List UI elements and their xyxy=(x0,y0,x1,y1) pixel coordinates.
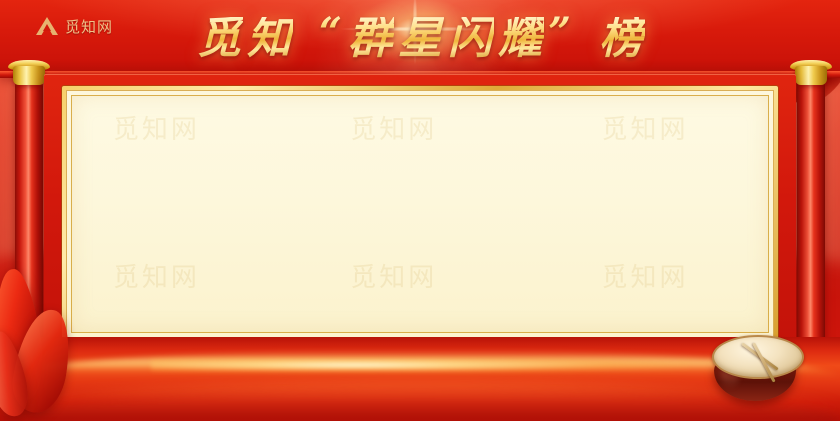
canvas-watermark: 觅知网 xyxy=(113,257,200,294)
content-canvas[interactable]: 觅知网觅知网觅知网觅知网觅知网觅知网 xyxy=(71,95,769,333)
cap-body xyxy=(795,66,827,85)
chinese-drum-icon xyxy=(712,333,804,405)
rod-shaft xyxy=(797,82,825,360)
golden-light-streak xyxy=(151,357,689,373)
cap-body xyxy=(13,66,45,85)
plaque-inner-border: 觅知网觅知网觅知网觅知网觅知网觅知网 xyxy=(66,90,774,338)
header-banner xyxy=(0,0,840,78)
rod-shaft xyxy=(15,82,43,360)
canvas-watermark: 觅知网 xyxy=(601,109,688,146)
scroll-rod-left xyxy=(12,60,46,360)
canvas-watermark: 觅知网 xyxy=(601,257,688,294)
canvas-watermark: 觅知网 xyxy=(350,257,437,294)
canvas-watermark: 觅知网 xyxy=(350,109,437,146)
scroll-rod-right xyxy=(794,60,828,360)
rod-gold-cap xyxy=(790,60,832,86)
poster-canvas: 觅知网 觅知“群星闪耀”榜 觅知网觅知网觅知网觅知网觅知网觅知网 xyxy=(0,0,840,421)
plaque-gold-border: 觅知网觅知网觅知网觅知网觅知网觅知网 xyxy=(62,86,778,342)
canvas-watermark: 觅知网 xyxy=(113,109,200,146)
main-plaque: 觅知网觅知网觅知网觅知网觅知网觅知网 xyxy=(44,74,796,354)
